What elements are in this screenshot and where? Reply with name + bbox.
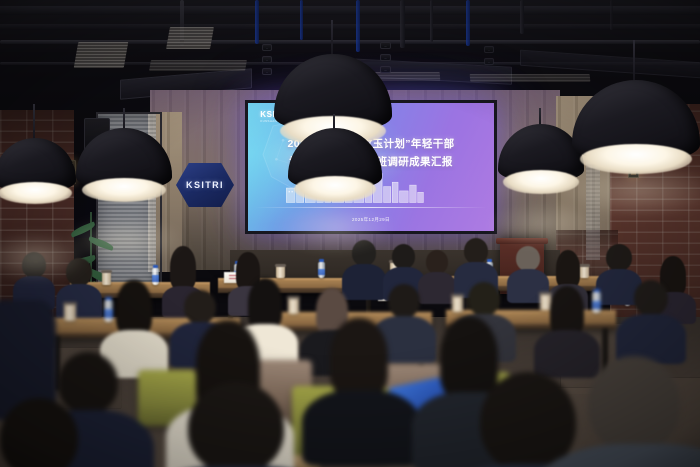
paper-cup[interactable] — [64, 304, 76, 321]
paper-cup[interactable] — [288, 298, 299, 314]
water-bottle[interactable] — [318, 262, 325, 278]
ceiling-speaker — [380, 54, 391, 61]
paper-cup[interactable] — [580, 266, 589, 278]
ceiling-speaker — [484, 58, 494, 65]
ceiling-speaker — [484, 46, 494, 53]
conference-room-photo: KSITRI KUNSHAN INDUSTRIAL TECHNOLOGY RES… — [0, 0, 700, 467]
ceiling-speaker — [262, 68, 272, 75]
paper-cup[interactable] — [452, 296, 463, 312]
paper-cup[interactable] — [276, 266, 285, 278]
ceiling-pipe-blue — [466, 0, 470, 46]
lectern-top — [496, 238, 548, 244]
ceiling-pipe-blue — [255, 0, 259, 44]
ceiling-vent — [470, 74, 591, 82]
ceiling-speaker — [380, 42, 391, 49]
ceiling-pipe-blue — [356, 0, 360, 52]
ceiling-pipe-blue — [300, 0, 303, 40]
wall-plaque-text: KSITRI — [186, 180, 224, 190]
ceiling-speaker — [262, 56, 272, 63]
ceiling-vent — [166, 27, 214, 49]
ceiling-pipe-vertical — [400, 0, 405, 48]
water-bottle[interactable] — [592, 292, 601, 313]
ceiling-beam — [0, 24, 700, 30]
ceiling-pipe-vertical — [430, 0, 433, 42]
ceiling-pipe-vertical — [610, 0, 613, 30]
ceiling-vent — [74, 42, 129, 68]
water-bottle[interactable] — [104, 300, 113, 322]
ceiling-vent — [149, 60, 247, 71]
water-bottle[interactable] — [152, 268, 159, 285]
ceiling-speaker — [262, 44, 272, 51]
slide-date: 2025年12月29日 — [248, 217, 494, 223]
ceiling-pipe-vertical — [520, 0, 524, 34]
paper-cup[interactable] — [102, 272, 111, 285]
ceiling-beam — [0, 6, 700, 15]
ceiling-speaker — [380, 66, 391, 73]
slide-divider-rule — [255, 207, 486, 208]
